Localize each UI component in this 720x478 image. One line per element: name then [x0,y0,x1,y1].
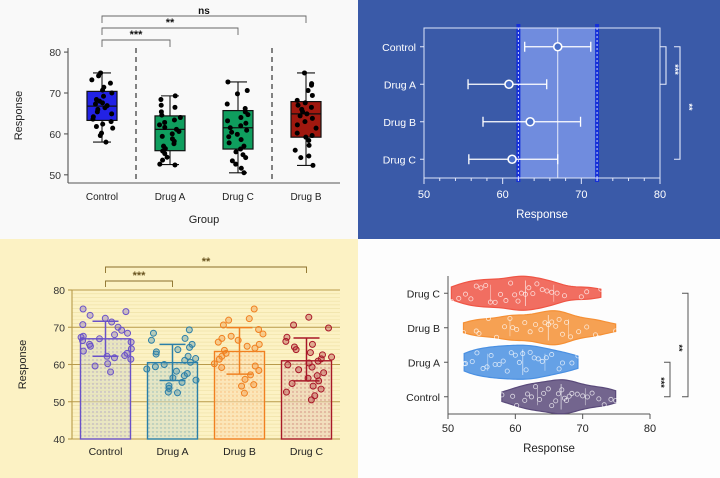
data-point [93,102,98,107]
data-point [251,382,257,388]
data-point [157,162,162,167]
data-point [172,118,177,123]
data-point [104,353,110,359]
data-point [150,330,156,336]
data-point [157,122,162,127]
data-point [175,347,181,353]
data-point [310,116,315,121]
x-axis-label: Response [523,443,575,455]
box-group [223,79,253,175]
panel-violin: 50607080ResponseDrug CDrug BDrug AContro… [358,239,720,478]
violin-group [500,380,618,414]
data-point [291,322,297,328]
data-point [296,103,301,108]
significance-bracket [102,28,238,35]
data-point [96,336,102,342]
data-point [310,163,315,168]
data-point [299,107,304,112]
y-tick-label: 60 [53,360,65,372]
mean-marker [508,155,516,163]
data-point [170,131,175,136]
x-tick-label: 70 [575,189,587,201]
data-point [289,380,295,386]
data-point [153,349,159,355]
data-point [312,393,318,399]
data-point [302,70,307,75]
data-point [244,343,250,349]
significance-label: *** [670,64,680,75]
data-point [283,389,289,395]
x-tick-label: Drug B [290,192,321,203]
x-tick-label: 50 [418,189,430,201]
x-tick-label: Drug A [156,446,188,458]
data-point [87,312,93,318]
data-point [221,347,227,353]
data-point [91,114,96,119]
panel-forest: 50607080ResponseControlDrug ADrug BDrug … [358,0,720,239]
data-point [307,143,312,148]
data-point [95,107,100,112]
data-point [125,330,131,336]
x-tick-label: 60 [497,189,509,201]
y-tick-label: Drug C [407,288,441,300]
data-point [123,309,129,315]
data-point [256,326,262,332]
data-point [298,155,303,160]
data-point [193,356,199,362]
data-point [109,91,114,96]
y-tick-label: 50 [49,170,61,182]
y-tick-label: 50 [53,397,65,409]
box-group [155,93,185,167]
data-point [233,149,238,154]
data-point [230,158,235,163]
data-point [158,97,163,102]
data-point [98,70,103,75]
x-tick-label: Control [89,446,123,458]
data-point [243,121,248,126]
significance-label: *** [133,270,147,282]
data-point [309,81,314,86]
data-point [235,337,241,343]
data-point [87,341,93,347]
data-point [112,332,118,338]
x-axis-label: Response [516,209,568,221]
data-point [174,390,180,396]
mean-marker [554,43,562,51]
data-point [159,109,164,114]
significance-label: ** [684,103,694,111]
significance-bracket [660,47,666,85]
data-point [302,119,307,124]
data-point [329,354,335,360]
y-tick-label: Drug A [384,79,416,91]
data-point [238,123,243,128]
y-tick-label: Drug A [408,357,440,369]
data-point [241,390,247,396]
x-tick-label: Drug C [222,192,254,203]
data-point [111,355,117,361]
y-tick-label: Drug B [383,117,416,129]
data-point [310,93,315,98]
data-point [100,122,105,127]
data-point [178,115,183,120]
data-point [239,383,245,389]
significance-bracket [102,16,306,23]
data-point [306,154,311,159]
significance-label: *** [130,29,144,41]
data-point [162,120,167,125]
violin-svg: 50607080ResponseDrug CDrug BDrug AContro… [358,239,720,478]
data-point [295,122,300,127]
y-axis-label: Response [17,340,29,390]
violin-group [462,345,580,379]
data-point [326,325,332,331]
data-point [92,363,98,369]
data-point [99,131,104,136]
data-point [159,103,164,108]
data-point [108,81,113,86]
data-point [226,317,232,323]
data-point [110,126,115,131]
data-point [310,383,316,389]
barplot-svg: 4050607080ResponseControlDrug ADrug BDru… [0,239,358,478]
figure-grid: 50607080ResponseGroupControlDrug ADrug C… [0,0,720,478]
x-tick-label: Drug A [155,192,186,203]
y-tick-label: 70 [53,322,65,334]
data-point [211,361,217,367]
data-point [219,364,225,370]
panel-boxplot: 50607080ResponseGroupControlDrug ADrug C… [0,0,358,239]
data-point [80,333,86,339]
significance-label: ns [198,6,210,17]
data-point [220,322,226,328]
data-point [295,131,300,136]
mean-marker [526,118,534,126]
x-tick-label: 50 [442,423,454,435]
data-point [306,360,312,366]
data-point [152,364,158,370]
data-point [314,126,319,131]
data-point [187,359,193,365]
data-point [161,362,167,368]
y-tick-label: 80 [53,285,65,297]
y-tick-label: Control [406,392,440,404]
data-point [80,306,86,312]
significance-label: *** [656,377,666,388]
violin-shape [451,276,600,310]
data-point [291,344,297,350]
box-group [291,70,321,167]
data-point [235,132,240,137]
x-axis-label: Group [189,214,220,226]
data-point [321,370,327,376]
data-point [245,88,250,93]
data-point [293,148,298,153]
data-point [307,350,313,356]
data-point [160,134,165,139]
data-point [89,77,94,82]
data-point [240,152,245,157]
violin-group [461,311,617,345]
data-point [103,140,108,145]
data-point [303,135,308,140]
y-axis-label: Response [13,91,25,141]
data-point [80,348,86,354]
data-point [182,335,188,341]
data-point [160,158,165,163]
x-tick-label: 70 [577,423,589,435]
data-point [186,327,192,333]
data-point [225,79,230,84]
data-point [101,94,106,99]
y-tick-label: 60 [49,129,61,141]
data-point [227,140,232,145]
data-point [306,314,312,320]
y-tick-label: 70 [49,88,61,100]
data-point [161,144,166,149]
data-point [166,383,172,389]
data-point [144,366,150,372]
data-point [229,130,234,135]
data-point [304,111,309,116]
data-point [303,100,308,105]
data-point [184,370,190,376]
data-point [172,105,177,110]
data-point [109,319,115,325]
data-point [109,119,114,124]
data-point [173,93,178,98]
forest-svg: 50607080ResponseControlDrug ADrug BDrug … [358,0,720,239]
data-point [219,335,225,341]
y-tick-label: 80 [49,47,61,59]
data-point [228,125,233,130]
data-point [306,88,311,93]
x-tick-label: 80 [654,189,666,201]
data-point [309,105,314,110]
x-tick-label: 80 [644,423,656,435]
data-point [225,118,230,123]
data-point [102,315,108,321]
bar-group [144,327,199,439]
data-point [162,125,167,130]
data-point [148,337,154,343]
data-point [109,111,114,116]
data-point [252,363,258,369]
significance-label: ** [202,256,211,268]
data-point [285,362,291,368]
y-tick-label: Drug B [407,323,440,335]
data-point [170,136,175,141]
data-point [239,137,244,142]
bar-group [211,306,266,439]
data-point [246,316,252,322]
data-point [243,106,248,111]
y-tick-label: Control [382,42,416,54]
significance-label: ** [166,17,175,29]
data-point [238,115,243,120]
bar-group [282,314,335,439]
data-point [174,127,179,132]
box-group [87,70,117,144]
data-point [251,306,257,312]
data-point [295,98,300,103]
data-point [228,333,234,339]
data-point [128,346,134,352]
data-point [172,163,177,168]
data-point [248,372,254,378]
data-point [105,103,110,108]
data-point [310,133,315,138]
y-tick-label: 40 [53,434,65,446]
x-tick-label: Drug B [223,446,256,458]
data-point [244,128,249,133]
bar-group [78,306,134,439]
data-point [94,124,99,129]
data-point [170,375,176,381]
data-point [235,91,240,96]
y-tick-label: Drug C [383,154,417,166]
data-point [319,352,325,358]
data-point [226,134,231,139]
data-point [242,376,248,382]
data-point [314,373,320,379]
significance-bracket [102,40,170,47]
data-point [173,368,179,374]
data-point [101,85,106,90]
data-point [80,322,86,328]
x-tick-label: 60 [509,423,521,435]
data-point [193,377,199,383]
data-point [256,341,262,347]
data-point [596,336,600,340]
data-point [239,166,244,171]
panel-barplot: 4050607080ResponseControlDrug ADrug BDru… [0,239,358,478]
data-point [105,361,111,367]
data-point [179,379,185,385]
boxplot-svg: 50607080ResponseGroupControlDrug ADrug C… [0,0,358,239]
data-point [115,324,121,330]
mean-marker [505,80,513,88]
x-tick-label: Control [86,192,118,203]
data-point [189,341,195,347]
data-point [185,353,191,359]
data-point [94,97,99,102]
data-point [318,386,324,392]
x-tick-label: Drug C [290,446,324,458]
data-point [241,170,246,175]
data-point [305,375,311,381]
data-point [108,369,114,375]
data-point [296,367,302,373]
violin-group [449,276,603,310]
data-point [128,339,134,345]
significance-label: ** [674,344,684,352]
data-point [284,334,290,340]
data-point [128,356,134,362]
data-point [225,102,230,107]
data-point [309,341,315,347]
data-point [241,144,246,149]
